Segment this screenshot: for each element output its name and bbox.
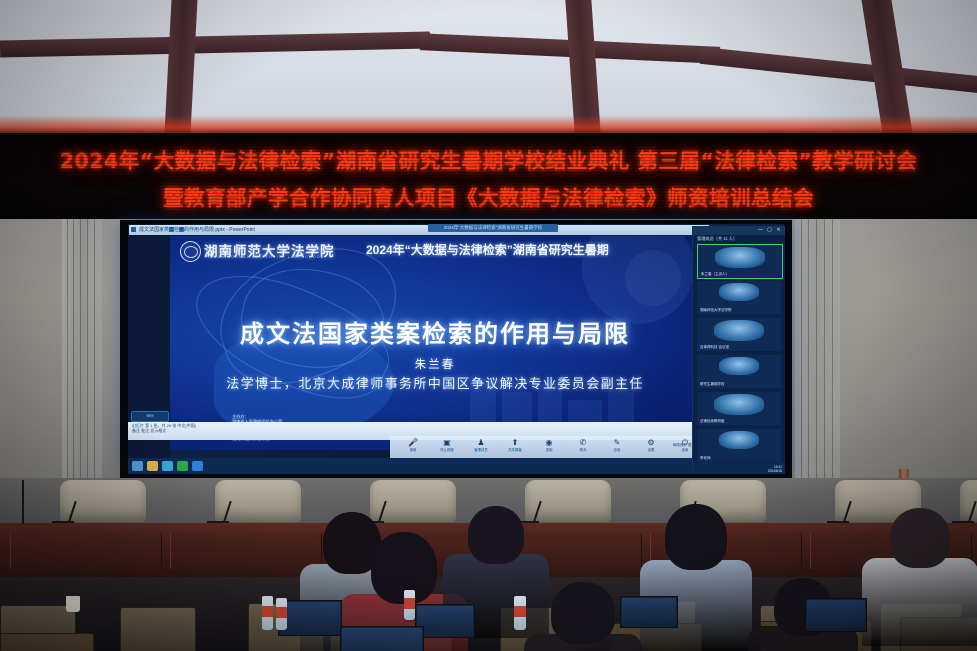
standing-microphone	[22, 480, 24, 524]
meeting-settings-icon[interactable]: ⚙设置	[634, 438, 668, 452]
conference-room-seating	[0, 478, 977, 651]
participant-video-thumbnail	[714, 320, 764, 341]
browser-icon[interactable]	[162, 461, 173, 471]
participant-name: 研究生暑期学校	[700, 382, 725, 387]
participant-video-thumbnail	[715, 247, 765, 268]
windows-taskbar[interactable]: 15:42 2024/8/18	[128, 458, 784, 474]
panel-header-text: 管理成员（共 11 人）	[697, 236, 737, 242]
laptop	[415, 604, 475, 638]
meeting-control-toolbar[interactable]: 🎤静音▣停止视频♟管理成员⬆共享屏幕◉录制✆聊天✎应用⚙设置⏻结束网络良好 麦克…	[390, 436, 710, 458]
meeting-icon[interactable]	[192, 461, 203, 471]
participant-name: 法律检索教研组	[700, 419, 725, 424]
participant-card[interactable]: 李老师	[697, 429, 781, 462]
file-explorer-icon[interactable]	[147, 461, 158, 471]
participant-card[interactable]: 百事得科技·会议室	[697, 318, 781, 351]
meeting-caption-chip: 2024年“大数据与法律检索”湖南省研究生暑期学校	[428, 224, 558, 232]
slide-header-text: 2024年“大数据与法律检索”湖南省研究生暑期	[366, 241, 700, 258]
meeting-microphone-icon[interactable]: 🎤静音	[396, 438, 430, 452]
meeting-toolbar-label: 应用	[600, 447, 634, 452]
participant-video-thumbnail	[719, 431, 759, 449]
meeting-toolbar-label: 停止视频	[430, 447, 464, 452]
projection-screen[interactable]: 成文法国家类案检索的作用与局限.pptx - PowerPoint 2024年“…	[128, 224, 784, 474]
laptop	[340, 626, 424, 651]
ceiling-red-glow	[0, 115, 977, 133]
led-banner: 2024年“大数据与法律检索”湖南省研究生暑期学校结业典礼 第三届“法律检索”教…	[0, 133, 977, 219]
person-head	[551, 582, 615, 644]
meeting-toolbar-label: 静音	[396, 447, 430, 452]
paper-cup	[66, 596, 80, 612]
powerpoint-status-note: 幻灯片 第 1 张，共 26 张 中文(中国) 备注 批注 显示格式	[132, 423, 196, 433]
meeting-camera-icon[interactable]: ▣停止视频	[430, 438, 464, 452]
led-scanline-overlay	[0, 133, 977, 219]
minimize-icon[interactable]: —	[758, 228, 763, 233]
participant-video-thumbnail	[719, 357, 759, 375]
meeting-participant-panel[interactable]: — ▢ ✕ 管理成员（共 11 人） 邀请成员 15:42 2024/8/18 …	[692, 226, 785, 474]
laptop	[805, 598, 867, 632]
university-seal-icon	[180, 241, 201, 262]
panel-taskbar[interactable]: 15:42 2024/8/18	[693, 463, 785, 474]
head-table-chair	[215, 480, 301, 522]
person-head	[665, 504, 727, 570]
microphone-base	[52, 521, 74, 523]
panel-clock: 15:42 2024/8/18	[768, 465, 782, 473]
meeting-record-icon[interactable]: ◉录制	[532, 438, 566, 452]
meeting-share-screen-icon[interactable]: ⬆共享屏幕	[498, 438, 532, 452]
water-bottle	[276, 598, 287, 630]
participant-card[interactable]: 研究生暑期学校	[697, 355, 781, 388]
person-head	[468, 506, 524, 564]
university-name-en: HUNAN NORMAL UNIVERSITY LAW SCHOOL	[206, 255, 324, 259]
share-screen-icon: ⬆	[498, 438, 532, 447]
microphone-base	[207, 521, 229, 523]
meeting-toolbar-label: 共享屏幕	[498, 447, 532, 452]
participant-name: 李老师	[700, 456, 711, 461]
participant-video-thumbnail	[714, 394, 764, 415]
participant-name: 湖南师范大学法学院	[700, 308, 732, 313]
settings-icon: ⚙	[634, 438, 668, 447]
slide-speaker-role: 法学博士，北京大成律师事务所中国区争议解决专业委员会副主任	[170, 373, 700, 392]
person-torso	[862, 558, 977, 646]
curtain-right	[795, 219, 840, 509]
slide-header-bar: 湖南师范大学法学院 HUNAN NORMAL UNIVERSITY LAW SC…	[170, 236, 700, 264]
presentation-slide: 湖南师范大学法学院 HUNAN NORMAL UNIVERSITY LAW SC…	[170, 236, 700, 450]
camera-icon: ▣	[430, 438, 464, 447]
laptop	[620, 596, 678, 628]
panel-window-chrome[interactable]: — ▢ ✕	[693, 226, 785, 235]
participant-name: 朱兰春（主讲人）	[701, 272, 729, 277]
meeting-toolbar-label: 设置	[634, 447, 668, 452]
wall-slab-left	[0, 219, 120, 509]
powerpoint-title-text: 成文法国家类案检索的作用与局限.pptx - PowerPoint	[139, 226, 255, 233]
participant-video-thumbnail	[719, 283, 759, 301]
audience-chair	[0, 633, 94, 651]
head-table-chair	[370, 480, 456, 522]
coffered-ceiling	[0, 0, 977, 133]
head-table-chair	[60, 480, 146, 522]
participant-card[interactable]: 朱兰春（主讲人）	[697, 244, 783, 279]
meeting-chat-icon[interactable]: ✆聊天	[566, 438, 600, 452]
close-icon[interactable]: ✕	[776, 228, 781, 233]
microphone-icon: 🎤	[396, 438, 430, 447]
head-table-chair	[525, 480, 611, 522]
powerpoint-titlebar[interactable]: 成文法国家类案检索的作用与局限.pptx - PowerPoint	[129, 225, 709, 235]
meeting-participants-icon[interactable]: ♟管理成员	[464, 438, 498, 452]
water-bottle	[514, 596, 526, 630]
curtain-left	[62, 219, 102, 509]
wechat-icon[interactable]	[177, 461, 188, 471]
maximize-icon[interactable]: ▢	[767, 228, 772, 233]
water-bottle	[262, 596, 273, 630]
slide-title: 成文法国家类案检索的作用与局限	[170, 314, 700, 349]
slide-speaker-name: 朱兰春	[170, 356, 700, 372]
chat-icon: ✆	[566, 438, 600, 447]
meeting-caption-text: 2024年“大数据与法律检索”湖南省研究生暑期学校	[428, 224, 558, 232]
participants-icon: ♟	[464, 438, 498, 447]
laptop	[278, 600, 342, 636]
record-icon: ◉	[532, 438, 566, 447]
slide-thumbnail-label: 98%	[132, 412, 168, 421]
water-bottle	[404, 590, 415, 620]
start-icon[interactable]	[132, 461, 143, 471]
participant-name: 百事得科技·会议室	[700, 345, 729, 350]
meeting-toolbar-label: 管理成员	[464, 447, 498, 452]
microphone-base	[827, 521, 849, 523]
meeting-annotate-icon[interactable]: ✎应用	[600, 438, 634, 452]
meeting-toolbar-label: 录制	[532, 447, 566, 452]
person-head	[890, 508, 950, 568]
conference-hall-photo: 2024年“大数据与法律检索”湖南省研究生暑期学校结业典礼 第三届“法律检索”教…	[0, 0, 977, 651]
participant-card[interactable]: 法律检索教研组	[697, 392, 781, 425]
audience-chair	[120, 607, 196, 651]
slide-thumbnail-chip[interactable]: 98%	[131, 411, 169, 422]
meeting-toolbar-label: 聊天	[566, 447, 600, 452]
annotate-icon: ✎	[600, 438, 634, 447]
participant-card[interactable]: 湖南师范大学法学院	[697, 281, 781, 314]
microphone-base	[952, 521, 974, 523]
